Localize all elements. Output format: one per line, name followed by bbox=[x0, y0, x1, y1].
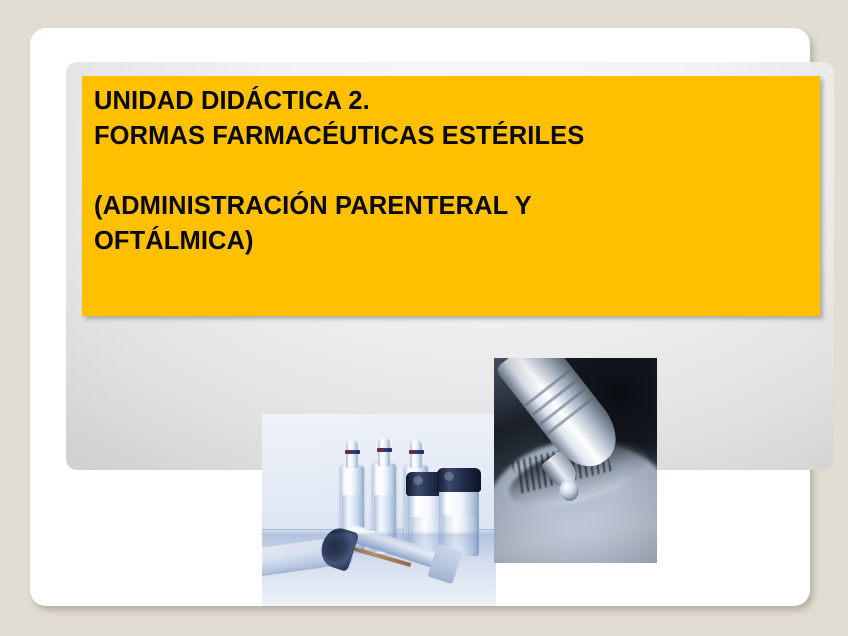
photo-vignette bbox=[494, 358, 657, 563]
slide-stage: UNIDAD DIDÁCTICA 2. FORMAS FARMACÉUTICAS… bbox=[0, 0, 848, 636]
ampoules-vials-syringe-photo bbox=[262, 414, 496, 606]
title-banner: UNIDAD DIDÁCTICA 2. FORMAS FARMACÉUTICAS… bbox=[82, 76, 820, 316]
ampoule-neck bbox=[378, 438, 390, 466]
ampoule-neck bbox=[410, 440, 422, 468]
page-title: UNIDAD DIDÁCTICA 2. FORMAS FARMACÉUTICAS… bbox=[94, 84, 810, 259]
ampoule-band bbox=[345, 450, 360, 454]
slide-card: UNIDAD DIDÁCTICA 2. FORMAS FARMACÉUTICAS… bbox=[30, 28, 810, 606]
eye-drop-instillation-photo bbox=[494, 358, 657, 563]
ampoule-band bbox=[409, 450, 424, 454]
vial-cap bbox=[437, 468, 481, 492]
photo-reflection bbox=[262, 533, 496, 606]
ampoule-neck bbox=[346, 440, 358, 468]
ampoule-band bbox=[377, 448, 392, 452]
